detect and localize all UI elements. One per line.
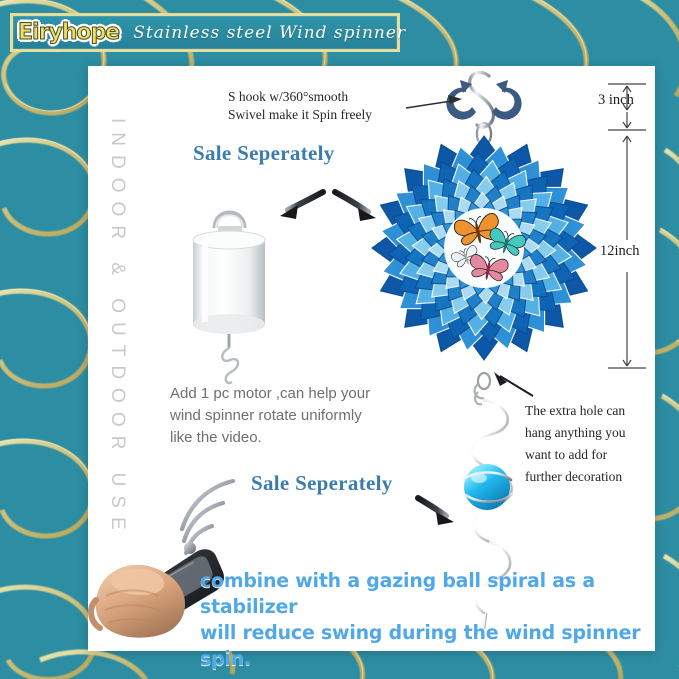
- bottom-headline: combine with a gazing ball spiral as a s…: [200, 568, 646, 672]
- extra-hole-line4: further decoration: [525, 466, 665, 488]
- sale-separately-top-label: Sale Seperately: [193, 141, 335, 166]
- extra-hole-line1: The extra hole can: [525, 400, 665, 422]
- content-card: [88, 66, 655, 651]
- s-hook-annotation: S hook w/360°smooth Swivel make it Spin …: [228, 88, 458, 124]
- infographic-canvas: Eiryhope Stainless steel Wind spinner IN…: [0, 0, 679, 679]
- motor-description-line3: like the video.: [170, 427, 420, 449]
- sale-separately-bottom-label: Sale Seperately: [251, 471, 393, 496]
- brand-logo: Eiryhope: [18, 20, 119, 45]
- motor-description: Add 1 pc motor ,can help your wind spinn…: [170, 383, 420, 448]
- bottom-headline-line2: will reduce swing during the wind spinne…: [200, 620, 646, 672]
- motor-description-line1: Add 1 pc motor ,can help your: [170, 383, 420, 405]
- s-hook-annotation-line2: Swivel make it Spin freely: [228, 106, 458, 124]
- s-hook-annotation-line1: S hook w/360°smooth: [228, 88, 458, 106]
- extra-hole-description: The extra hole can hang anything you wan…: [525, 400, 665, 487]
- banner-title: Stainless steel Wind spinner: [133, 23, 406, 43]
- bottom-headline-line1: combine with a gazing ball spiral as a s…: [200, 568, 646, 620]
- vertical-usage-label: INDOOR & OUTDOOR USE: [92, 108, 128, 548]
- dimension-label-spinner: 12inch: [600, 243, 639, 260]
- extra-hole-line3: want to add for: [525, 444, 665, 466]
- motor-description-line2: wind spinner rotate uniformly: [170, 405, 420, 427]
- extra-hole-line2: hang anything you: [525, 422, 665, 444]
- dimension-label-hook: 3 inch: [598, 92, 634, 109]
- brand-banner: Eiryhope Stainless steel Wind spinner: [10, 13, 400, 52]
